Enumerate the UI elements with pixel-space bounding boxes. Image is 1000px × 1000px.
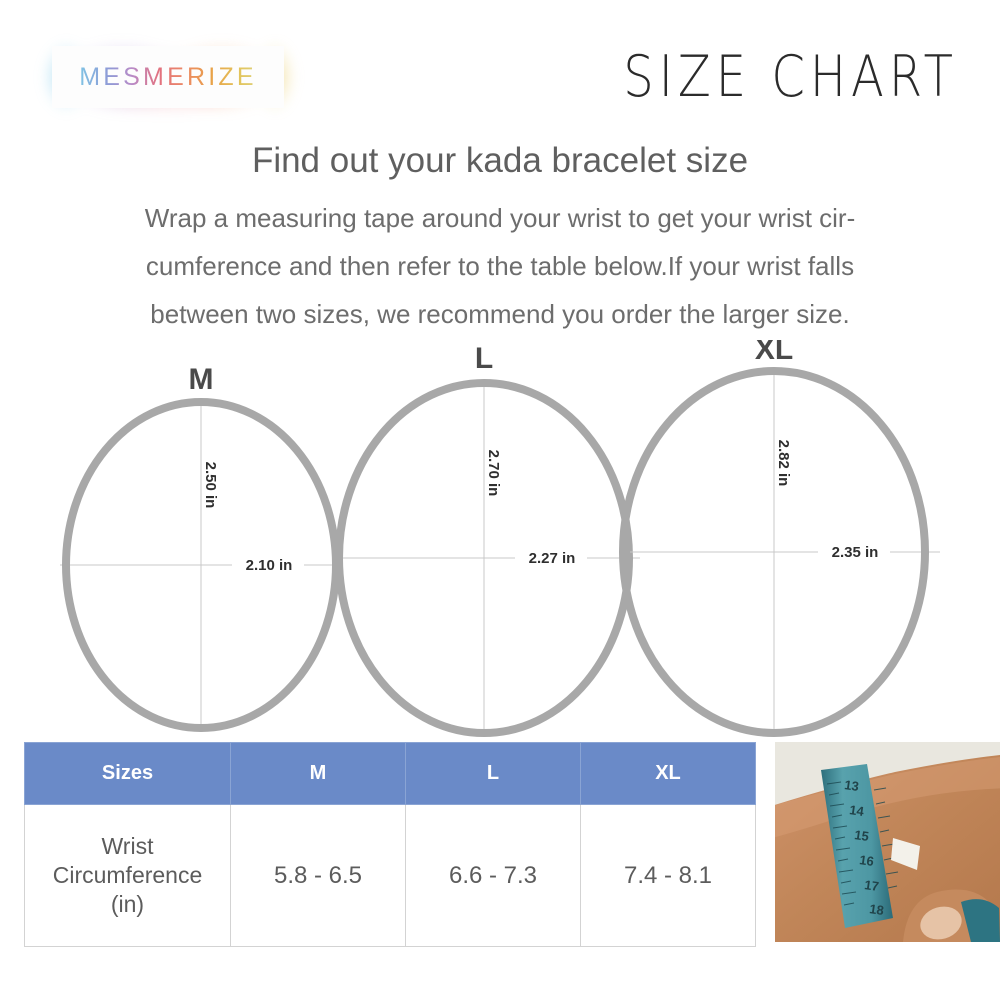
table-row-label-wrist-circumference: Wrist Circumference (in) (25, 805, 231, 947)
oval-group-l: L 2.70 in 2.27 in (336, 342, 640, 733)
oval-m-width-label: 2.10 in (246, 557, 293, 574)
oval-l-height-label: 2.70 in (485, 450, 502, 497)
table-header-xl: XL (581, 743, 756, 805)
logo-plate: MESMERIZE (52, 46, 284, 108)
table-cell-l: 6.6 - 7.3 (406, 805, 581, 947)
oval-m-size-letter: M (189, 363, 214, 396)
table-cell-xl: 7.4 - 8.1 (581, 805, 756, 947)
tape-number-16: 16 (858, 852, 874, 869)
intro-line-3: between two sizes, we recommend you orde… (50, 290, 950, 338)
oval-size-diagram: M 2.50 in 2.10 in L 2.70 in 2.27 in XL 2… (0, 340, 1000, 740)
logo-wordmark: MESMERIZE (79, 63, 256, 92)
oval-m-height-label: 2.50 in (202, 462, 219, 509)
oval-group-xl: XL 2.82 in 2.35 in (623, 340, 940, 733)
tape-number-14: 14 (848, 802, 865, 819)
tape-number-13: 13 (843, 777, 859, 794)
table-header-l: L (406, 743, 581, 805)
oval-xl-size-letter: XL (755, 340, 793, 366)
oval-group-m: M 2.50 in 2.10 in (60, 363, 340, 728)
tape-number-15: 15 (853, 827, 869, 844)
intro-heading: Find out your kada bracelet size (50, 140, 950, 182)
oval-l-size-letter: L (475, 342, 493, 375)
table-header-row: Sizes M L XL (25, 743, 756, 805)
table-header-m: M (231, 743, 406, 805)
wrist-measuring-tape-photo: 13 14 15 16 17 18 (775, 742, 1000, 942)
size-table: Sizes M L XL Wrist Circumference (in) 5.… (24, 742, 756, 947)
oval-xl-width-label: 2.35 in (832, 544, 879, 561)
intro-line-1: Wrap a measuring tape around your wrist … (50, 194, 950, 242)
table-header-sizes: Sizes (25, 743, 231, 805)
page-header: MESMERIZE SIZE CHART (0, 0, 1000, 125)
oval-xl-height-label: 2.82 in (775, 440, 792, 487)
row-label-line-3: (in) (26, 890, 229, 919)
intro-line-2: cumference and then refer to the table b… (50, 242, 950, 290)
row-label-line-2: Circumference (26, 861, 229, 890)
tape-number-17: 17 (863, 877, 879, 894)
table-row: Wrist Circumference (in) 5.8 - 6.5 6.6 -… (25, 805, 756, 947)
oval-l-width-label: 2.27 in (529, 550, 576, 567)
tape-number-18: 18 (868, 901, 884, 918)
intro-block: Find out your kada bracelet size Wrap a … (50, 140, 950, 338)
row-label-line-1: Wrist (26, 832, 229, 861)
brand-logo: MESMERIZE (52, 46, 284, 108)
table-cell-m: 5.8 - 6.5 (231, 805, 406, 947)
page-title: SIZE CHART (623, 44, 958, 110)
